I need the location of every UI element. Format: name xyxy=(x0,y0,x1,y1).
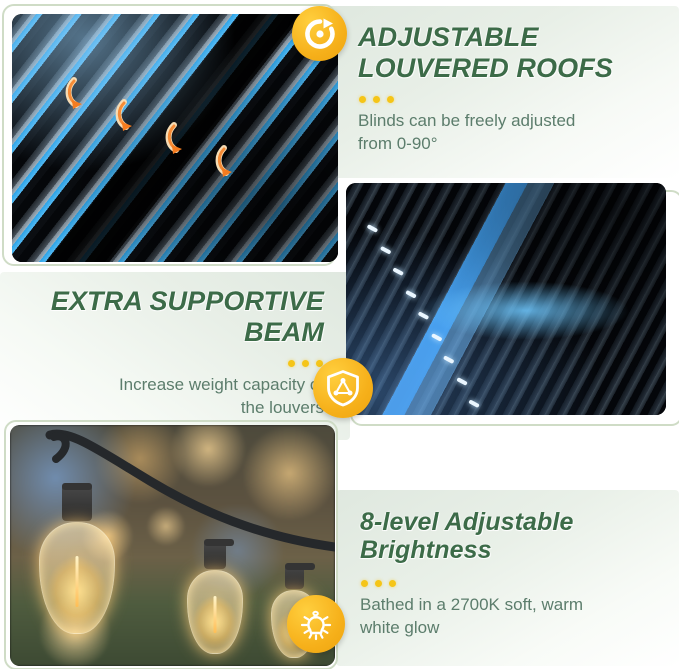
rotation-arrow-icon xyxy=(164,121,204,161)
subtext-line-2: from 0-90° xyxy=(358,133,668,156)
feature-heading-extra-supportive-beam: EXTRA SUPPORTIVE BEAM xyxy=(0,286,324,347)
heading-line-2: BEAM xyxy=(0,317,324,348)
heading-line-2: LOUVERED ROOFS xyxy=(358,53,678,84)
subtext-line-2: white glow xyxy=(360,617,670,640)
decorative-dot xyxy=(375,580,382,587)
dot-separator-1 xyxy=(359,96,394,103)
led-dot xyxy=(418,312,430,321)
decorative-dot xyxy=(359,96,366,103)
led-dot xyxy=(444,355,456,364)
bulb-socket xyxy=(204,539,226,569)
bulb-glass xyxy=(39,522,115,634)
feature-heading-8-level-adjustable-brightness: 8-level Adjustable Brightness xyxy=(360,508,670,565)
decorative-dot xyxy=(387,96,394,103)
feature-text-panel-8-level-adjustable-brightness: 8-level Adjustable Brightness Bathed in … xyxy=(336,490,679,666)
feature-subtext-8-level-adjustable-brightness: Bathed in a 2700K soft, warm white glow xyxy=(360,594,670,640)
feature-heading-adjustable-louvered-roofs: ADJUSTABLE LOUVERED ROOFS xyxy=(358,22,678,83)
heading-line-2: Brightness xyxy=(360,536,670,564)
led-dot xyxy=(405,290,417,299)
string-bulb xyxy=(32,461,122,634)
rotate-arrow-icon xyxy=(303,17,337,51)
feature-text-panel-adjustable-louvered-roofs: ADJUSTABLE LOUVERED ROOFS Blinds can be … xyxy=(328,6,679,178)
bulb-glass xyxy=(187,570,243,654)
dot-separator-3 xyxy=(361,580,396,587)
rotation-arrow-icon xyxy=(214,144,254,184)
shield-truss-badge xyxy=(313,358,373,418)
decorative-dot xyxy=(288,360,295,367)
bulb-filament xyxy=(76,556,79,607)
feature-subtext-adjustable-louvered-roofs: Blinds can be freely adjusted from 0-90° xyxy=(358,110,668,156)
led-dot xyxy=(431,334,443,343)
heading-line-1: EXTRA SUPPORTIVE xyxy=(0,286,324,317)
bulb-filament xyxy=(214,596,217,634)
decorative-dot xyxy=(373,96,380,103)
photo-supportive-beam xyxy=(346,183,666,415)
bulb-socket xyxy=(62,483,92,521)
feature-subtext-extra-supportive-beam: Increase weight capacity of the louvers xyxy=(4,374,324,420)
feature-text-panel-extra-supportive-beam: EXTRA SUPPORTIVE BEAM Increase weight ca… xyxy=(0,272,350,440)
led-dot xyxy=(456,377,468,386)
bulb-socket xyxy=(285,563,304,589)
heading-line-1: ADJUSTABLE xyxy=(358,22,678,53)
dot-separator-2 xyxy=(288,360,323,367)
decorative-dot xyxy=(361,580,368,587)
rotation-arrow-icon xyxy=(64,76,104,116)
rotate-arrow-badge xyxy=(292,6,347,61)
subtext-line-2: the louvers xyxy=(4,397,324,420)
photo-string-lights xyxy=(10,425,335,666)
photo-louvered-roof xyxy=(12,14,338,262)
light-bulb-badge xyxy=(287,595,345,653)
led-dot xyxy=(380,246,392,255)
decorative-dot xyxy=(389,580,396,587)
subtext-line-1: Increase weight capacity of xyxy=(4,374,324,397)
led-dot xyxy=(393,268,405,277)
light-bulb-icon xyxy=(298,606,334,642)
heading-line-1: 8-level Adjustable xyxy=(360,508,670,536)
feature-infographic: ADJUSTABLE LOUVERED ROOFS Blinds can be … xyxy=(0,0,679,669)
string-bulb xyxy=(182,517,248,654)
rotation-arrow-group xyxy=(64,76,274,186)
subtext-line-1: Bathed in a 2700K soft, warm xyxy=(360,594,670,617)
shield-truss-icon xyxy=(325,369,361,407)
decorative-dot xyxy=(302,360,309,367)
subtext-line-1: Blinds can be freely adjusted xyxy=(358,110,668,133)
led-dot xyxy=(469,399,481,408)
rotation-arrow-icon xyxy=(114,98,154,138)
